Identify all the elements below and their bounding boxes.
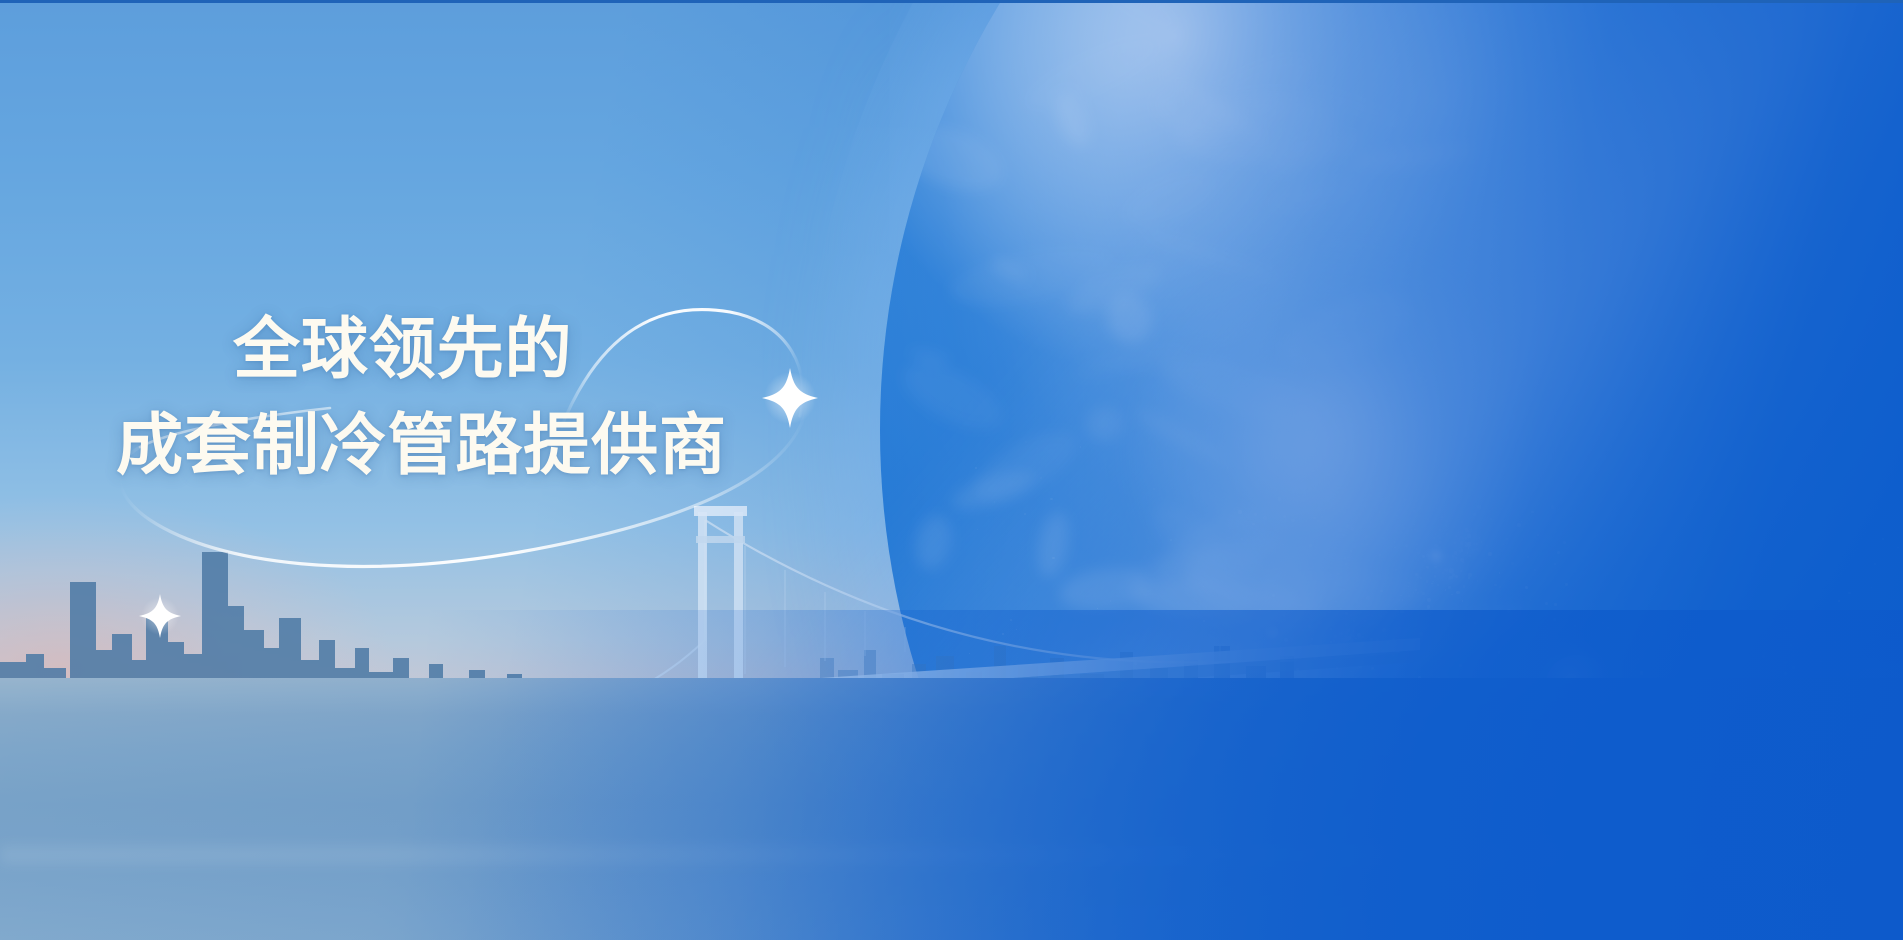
water-blue-shading bbox=[0, 678, 1903, 940]
page-title: 全球领先的 成套制冷管路提供商 bbox=[116, 305, 727, 491]
top-edge-strip bbox=[0, 0, 1903, 3]
hero-banner: 全球领先的 成套制冷管路提供商 bbox=[0, 0, 1903, 940]
headline-line-1: 全球领先的 bbox=[233, 305, 727, 395]
headline-line-2: 成套制冷管路提供商 bbox=[116, 401, 727, 491]
